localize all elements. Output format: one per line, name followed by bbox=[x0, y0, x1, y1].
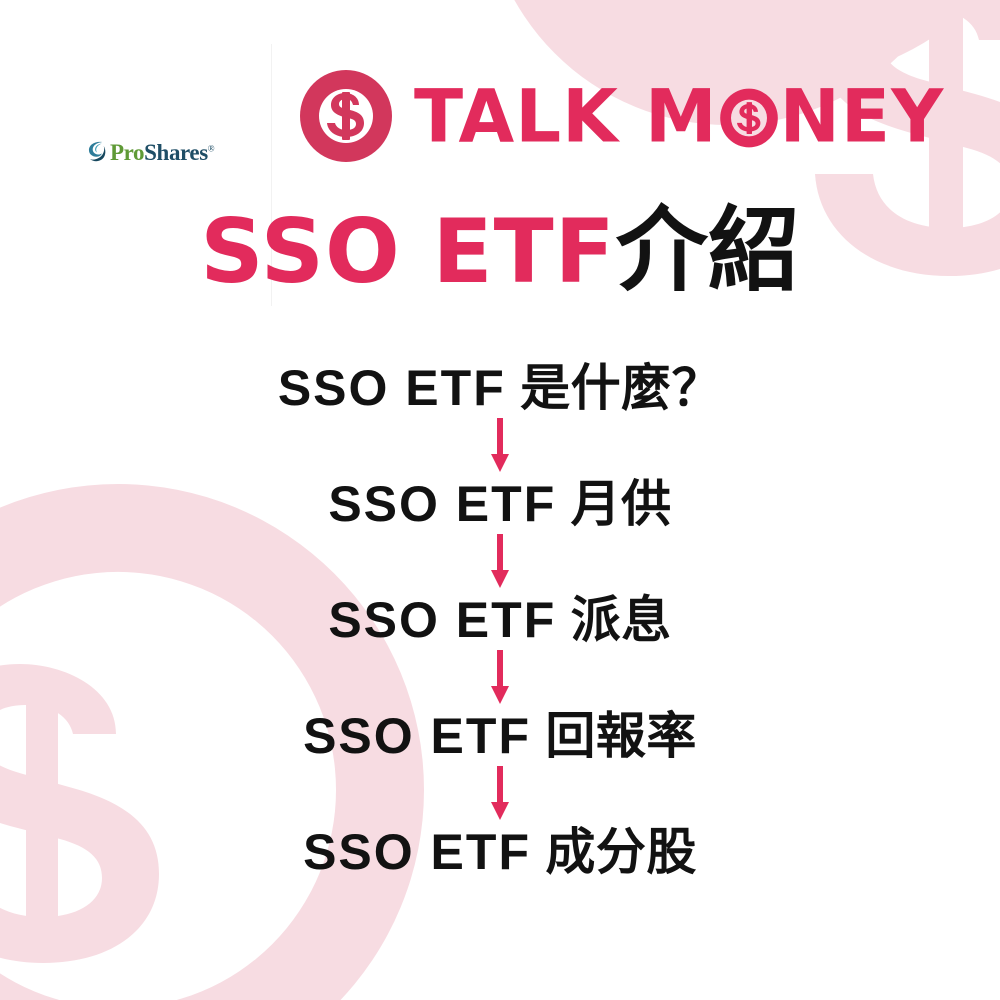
dollar-coin-o-icon bbox=[719, 87, 779, 148]
proshares-trademark: ® bbox=[208, 143, 214, 153]
list-item-en: SSO ETF bbox=[278, 360, 506, 416]
list-item-en: SSO ETF bbox=[328, 476, 556, 532]
talk-money-text-part2: NEY bbox=[780, 79, 945, 152]
list-item[interactable]: SSO ETF 派息 bbox=[328, 592, 671, 648]
poster-canvas: ProShares® TALK M NEY SSO bbox=[0, 0, 1000, 1000]
list-item-en: SSO ETF bbox=[303, 708, 531, 764]
arrow-down-icon bbox=[491, 534, 509, 590]
talk-money-text-part1: TALK M bbox=[414, 79, 718, 152]
list-item[interactable]: SSO ETF 是什麼？ bbox=[278, 360, 722, 416]
dollar-coin-icon bbox=[296, 66, 396, 166]
page-title: SSO ETF介紹 bbox=[0, 205, 1000, 297]
list-item-zh: 成分股 bbox=[545, 824, 697, 880]
page-title-en: SSO ETF bbox=[200, 200, 616, 303]
proshares-logo: ProShares® bbox=[88, 140, 214, 164]
list-item-zh: 派息 bbox=[571, 592, 672, 648]
list-item-en: SSO ETF bbox=[303, 824, 531, 880]
proshares-pro-text: Pro bbox=[110, 140, 144, 165]
list-item-en: SSO ETF bbox=[328, 592, 556, 648]
topic-flow-list: SSO ETF 是什麼？ SSO ETF 月供 SSO ETF 派息 SSO E… bbox=[0, 360, 1000, 880]
talk-money-logo: TALK M NEY bbox=[296, 66, 944, 166]
talk-money-wordmark: TALK M NEY bbox=[414, 79, 944, 152]
page-title-zh: 介紹 bbox=[616, 200, 800, 302]
proshares-shares-text: Shares bbox=[144, 140, 208, 165]
list-item[interactable]: SSO ETF 回報率 bbox=[303, 708, 697, 764]
list-item-zh: 回報率 bbox=[545, 708, 697, 764]
arrow-down-icon bbox=[491, 650, 509, 706]
arrow-down-icon bbox=[491, 418, 509, 474]
list-item-zh: 是什麼？ bbox=[520, 360, 722, 416]
list-item[interactable]: SSO ETF 月供 bbox=[328, 476, 671, 532]
proshares-wordmark: ProShares® bbox=[110, 141, 214, 164]
list-item[interactable]: SSO ETF 成分股 bbox=[303, 824, 697, 880]
arrow-down-icon bbox=[491, 766, 509, 822]
list-item-zh: 月供 bbox=[571, 476, 672, 532]
proshares-swoosh-icon bbox=[88, 140, 107, 164]
